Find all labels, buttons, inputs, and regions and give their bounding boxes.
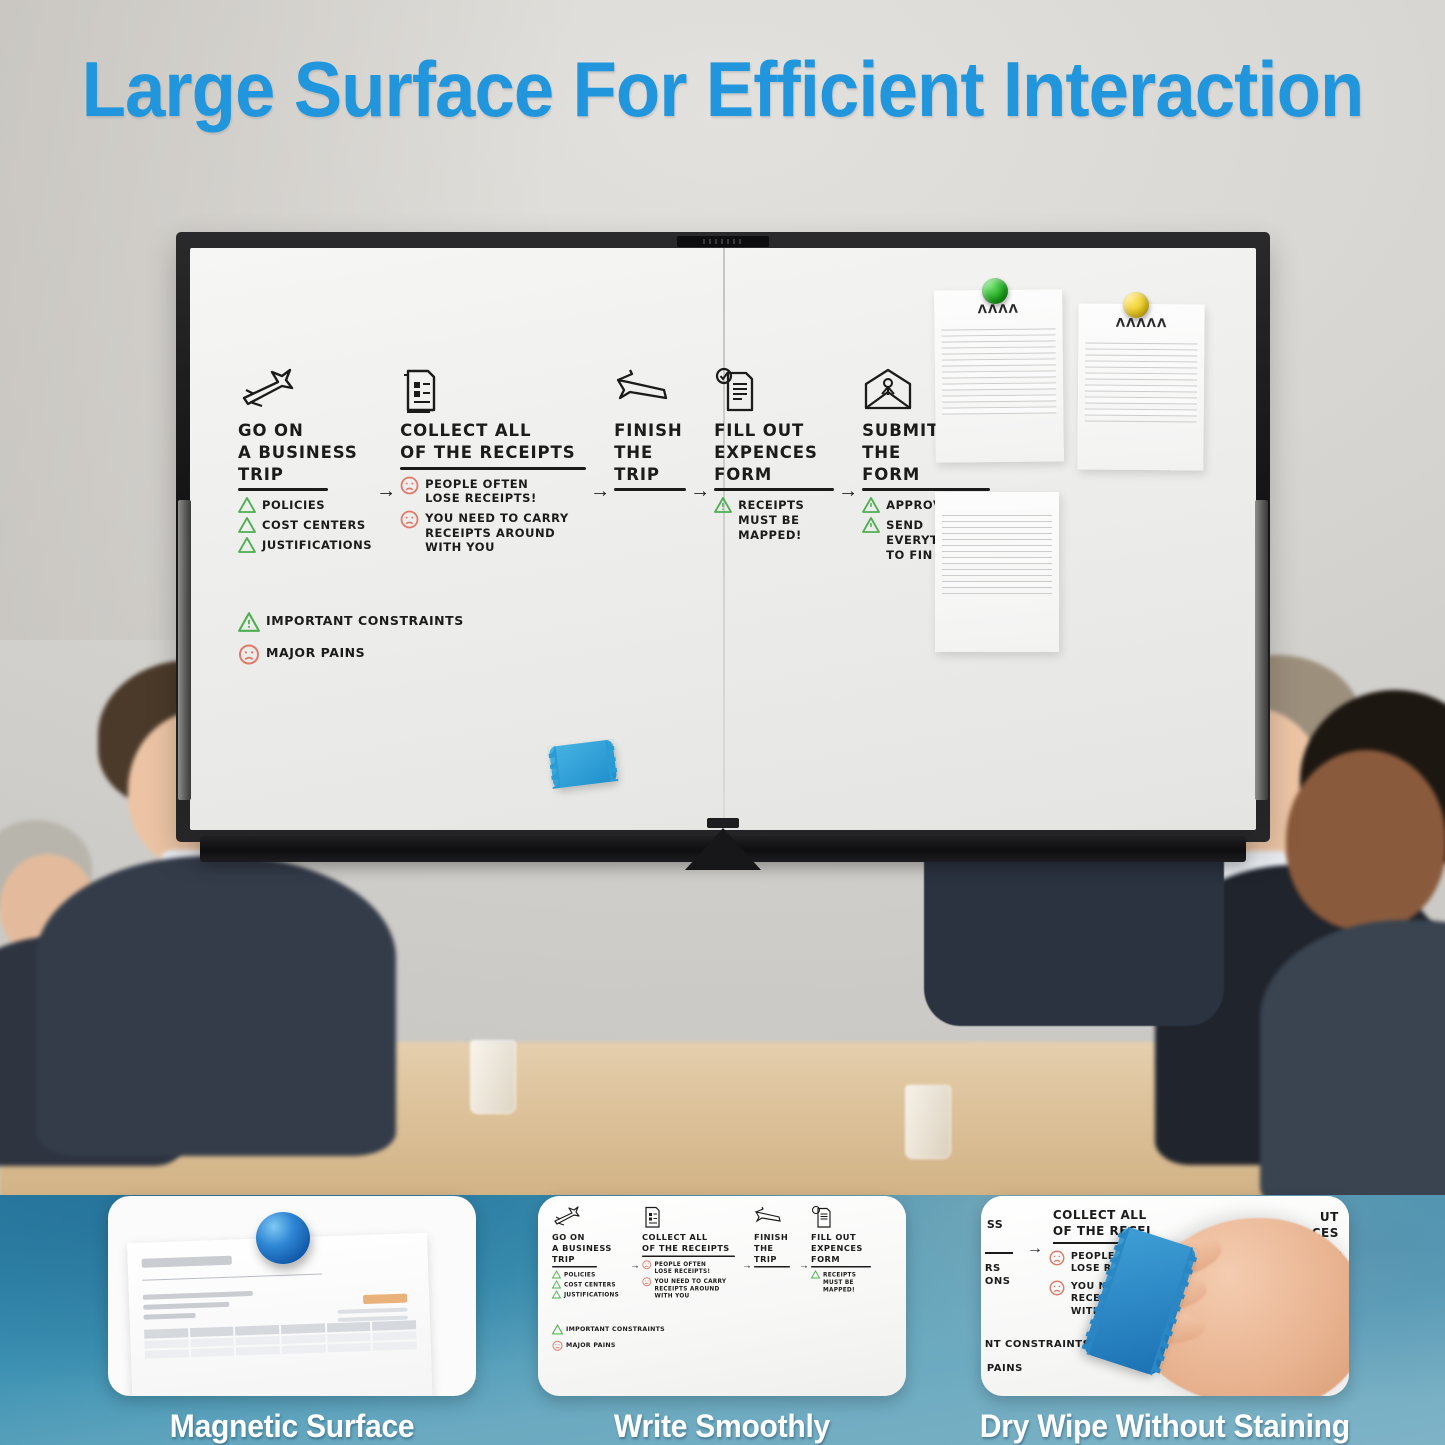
legend-label: MAJOR PAINS (566, 1341, 616, 1350)
title-underline (238, 488, 328, 491)
pain-icon (1049, 1250, 1065, 1266)
feature-thumbnail[interactable]: GO ON A BUSINESS TRIP POLICIES COST CENT… (538, 1196, 906, 1396)
whiteboard-frame: GO ON A BUSINESS TRIP POLICIES COST CENT… (176, 232, 1270, 842)
clipboard-check-icon (811, 1206, 877, 1229)
diagram-legend: IMPORTANT CONSTRAINTS MAJOR PAINS (238, 612, 938, 665)
legend-item-constraints: IMPORTANT CONSTRAINTS (552, 1325, 906, 1335)
step-title: FINISH THE TRIP (614, 420, 686, 485)
feature-dry-wipe[interactable]: SS RS ONS → COLLECT ALL OF THE RECEI PEO… (968, 1196, 1362, 1445)
legend-label: MAJOR PAINS (266, 644, 365, 661)
whiteboard[interactable]: GO ON A BUSINESS TRIP POLICIES COST CENT… (176, 232, 1270, 892)
receipt-document-icon (642, 1206, 740, 1229)
feature-label: Magnetic Surface (170, 1408, 415, 1445)
feature-label: Write Smoothly (614, 1408, 830, 1445)
step-title: GO ON A BUSINESS TRIP (238, 420, 372, 485)
attendee-right-front (1290, 690, 1445, 1140)
note-text: COST CENTERS (564, 1281, 616, 1289)
fragment-text: PAINS (987, 1362, 1023, 1375)
feature-thumbnail[interactable]: SS RS ONS → COLLECT ALL OF THE RECEI PEO… (981, 1196, 1349, 1396)
feature-thumbnail[interactable] (108, 1196, 476, 1396)
mini-step-2: COLLECT ALL OF THE RECEIPTS PEOPLE OFTEN… (642, 1206, 740, 1302)
mini-step-4: FILL OUT EXPENCES FORM RECEIPTS MUST BE … (811, 1206, 877, 1295)
note-item: COST CENTERS (238, 517, 372, 533)
flow-arrow: → (686, 480, 714, 503)
legend-item-constraints: IMPORTANT CONSTRAINTS (238, 612, 938, 632)
step-title: GO ON A BUSINESS TRIP (552, 1232, 628, 1265)
title-underline (714, 488, 834, 491)
green-magnet[interactable] (982, 278, 1008, 304)
airplane-takeoff-icon (552, 1206, 628, 1229)
whiteboard-eraser[interactable] (549, 739, 618, 788)
flow-arrow: → (586, 480, 614, 503)
note-text: PEOPLE OFTEN LOSE RECEIPTS! (425, 476, 537, 506)
note-text: JUSTIFICATIONS (564, 1291, 619, 1299)
page-title: Large Surface For Efficient Interaction (51, 44, 1395, 135)
process-steps: GO ON A BUSINESS TRIP POLICIES COST CENT… (238, 368, 938, 566)
board-support-post-right (1255, 500, 1268, 800)
water-glass-right (905, 1085, 951, 1159)
paper-table (941, 323, 1056, 414)
flow-arrow: → (797, 1260, 811, 1272)
fragment-text: NT CONSTRAINTS (985, 1338, 1090, 1351)
step-finish-the-trip: FINISH THE TRIP (614, 368, 686, 497)
legend-item-pains: MAJOR PAINS (552, 1341, 906, 1352)
step-title: FILL OUT EXPENCES FORM (811, 1232, 877, 1265)
note-text: PEOPLE OFTEN LOSE RECEIPTS! (655, 1260, 711, 1275)
step-fill-out-expences-form: FILL OUT EXPENCES FORM RECEIPTS MUST BE … (714, 368, 834, 546)
note-text: COST CENTERS (262, 517, 366, 533)
flow-arrow: → (628, 1260, 642, 1272)
note-item: PEOPLE OFTEN LOSE RECEIPTS! (400, 476, 586, 506)
mini-step-1: GO ON A BUSINESS TRIP POLICIES COST CENT… (552, 1206, 628, 1301)
title-underline (400, 467, 586, 470)
note-text: RECEIPTS MUST BE MAPPED! (738, 497, 804, 542)
step-notes: PEOPLE OFTEN LOSE RECEIPTS! YOU NEED TO … (400, 476, 586, 556)
airplane-landing-icon (614, 368, 686, 414)
legend-label: IMPORTANT CONSTRAINTS (266, 612, 464, 629)
note-text: YOU NEED TO CARRY RECEIPTS AROUND WITH Y… (425, 510, 569, 555)
mini-step-3: FINISH THE TRIP (754, 1206, 797, 1271)
board-top-hinge (677, 236, 769, 247)
note-item: JUSTIFICATIONS (238, 537, 372, 553)
flow-arrow: → (834, 480, 862, 503)
step-notes: RECEIPTS MUST BE MAPPED! (714, 497, 834, 542)
airplane-takeoff-icon (238, 368, 372, 414)
note-text: YOU NEED TO CARRY RECEIPTS AROUND WITH Y… (655, 1277, 727, 1300)
clipboard-check-icon (714, 368, 834, 414)
feature-label: Dry Wipe Without Staining (980, 1408, 1350, 1445)
pain-icon (1049, 1280, 1065, 1296)
fragment-underline (985, 1252, 1013, 1254)
paper-table (942, 510, 1052, 594)
step-go-on-a-business-trip: GO ON A BUSINESS TRIP POLICIES COST CENT… (238, 368, 372, 557)
paper-heading: ɅɅɅɅ (934, 301, 1062, 316)
step-title: FINISH THE TRIP (754, 1232, 797, 1265)
airplane-landing-icon (754, 1206, 797, 1229)
legend-label: IMPORTANT CONSTRAINTS (566, 1325, 665, 1334)
water-glass-left (470, 1040, 516, 1114)
feature-magnetic-surface[interactable]: Magnetic Surface (108, 1196, 476, 1445)
feature-write-smoothly[interactable]: GO ON A BUSINESS TRIP POLICIES COST CENT… (538, 1196, 906, 1445)
note-item: YOU NEED TO CARRY RECEIPTS AROUND WITH Y… (400, 510, 586, 555)
yellow-magnet[interactable] (1123, 292, 1149, 318)
flow-arrow: → (740, 1260, 754, 1272)
mini-diagram: GO ON A BUSINESS TRIP POLICIES COST CENT… (552, 1206, 906, 1357)
step-title: COLLECT ALL OF THE RECEIPTS (400, 420, 586, 464)
step-collect-all-of-the-receipts: COLLECT ALL OF THE RECEIPTS PEOPLE OFTEN… (400, 368, 586, 559)
note-text: POLICIES (262, 497, 325, 513)
note-item: POLICIES (238, 497, 372, 513)
note-text: RECEIPTS MUST BE MAPPED! (823, 1271, 856, 1294)
note-text: POLICIES (564, 1271, 596, 1279)
board-support-post-left (178, 500, 191, 800)
step-title: COLLECT ALL OF THE RECEIPTS (642, 1232, 740, 1254)
tray-center-bracket (685, 828, 761, 870)
receipt-document-icon (400, 368, 586, 414)
feature-strip: Magnetic Surface GO ON A BUSINESS TRIP P… (0, 1160, 1445, 1445)
step-notes: POLICIES COST CENTERS JUSTIFICATIONS (238, 497, 372, 553)
handwritten-diagram: GO ON A BUSINESS TRIP POLICIES COST CENT… (238, 368, 938, 677)
fragment-text: RS ONS (985, 1262, 1011, 1288)
whiteboard-surface[interactable]: GO ON A BUSINESS TRIP POLICIES COST CENT… (190, 248, 1256, 830)
fragment-text: SS (987, 1218, 1003, 1232)
posted-paper-3[interactable] (935, 492, 1059, 652)
title-underline (614, 488, 686, 491)
legend-item-pains: MAJOR PAINS (238, 644, 938, 665)
note-item: RECEIPTS MUST BE MAPPED! (714, 497, 834, 542)
posted-paper-1[interactable]: ɅɅɅɅ (934, 289, 1064, 462)
posted-paper-2[interactable]: ɅɅɅɅɅ (1077, 303, 1204, 470)
step-title: FILL OUT EXPENCES FORM (714, 420, 834, 485)
paper-heading: ɅɅɅɅɅ (1078, 315, 1204, 330)
flow-arrow: → (372, 480, 400, 503)
note-text: JUSTIFICATIONS (262, 537, 372, 553)
blue-magnet[interactable] (256, 1212, 310, 1264)
title-underline (862, 488, 990, 491)
paper-table (1085, 338, 1198, 423)
flow-arrow: → (1027, 1240, 1043, 1258)
